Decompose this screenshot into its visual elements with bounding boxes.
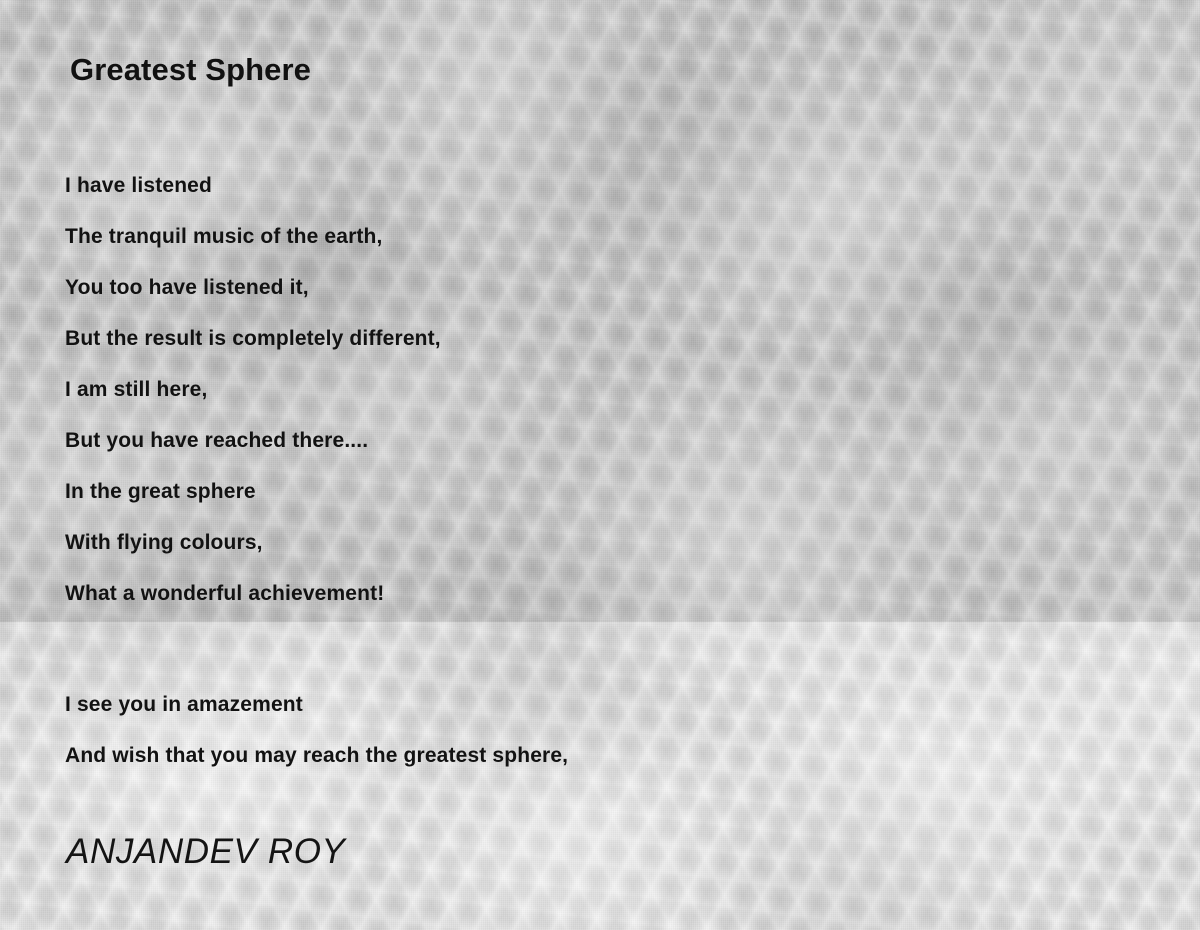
poem-title: Greatest Sphere (70, 52, 311, 88)
poem-line: I have listened (65, 160, 441, 211)
poem-line: The tranquil music of the earth, (65, 211, 441, 262)
poem-line: But the result is completely different, (65, 313, 441, 364)
poem-stanza-2: I see you in amazement And wish that you… (65, 679, 568, 781)
poem-line: And wish that you may reach the greatest… (65, 730, 568, 781)
poem-line: In the great sphere (65, 466, 441, 517)
poem-author-signature: ANJANDEV ROY (66, 832, 345, 872)
poem-line: I am still here, (65, 364, 441, 415)
poem-image-card: Greatest Sphere I have listened The tran… (0, 0, 1200, 930)
poem-content: Greatest Sphere I have listened The tran… (0, 0, 1200, 930)
poem-line: But you have reached there.... (65, 415, 441, 466)
poem-line: What a wonderful achievement! (65, 568, 441, 619)
poem-line: With flying colours, (65, 517, 441, 568)
poem-line: You too have listened it, (65, 262, 441, 313)
poem-stanza-1: I have listened The tranquil music of th… (65, 160, 441, 619)
poem-line: I see you in amazement (65, 679, 568, 730)
